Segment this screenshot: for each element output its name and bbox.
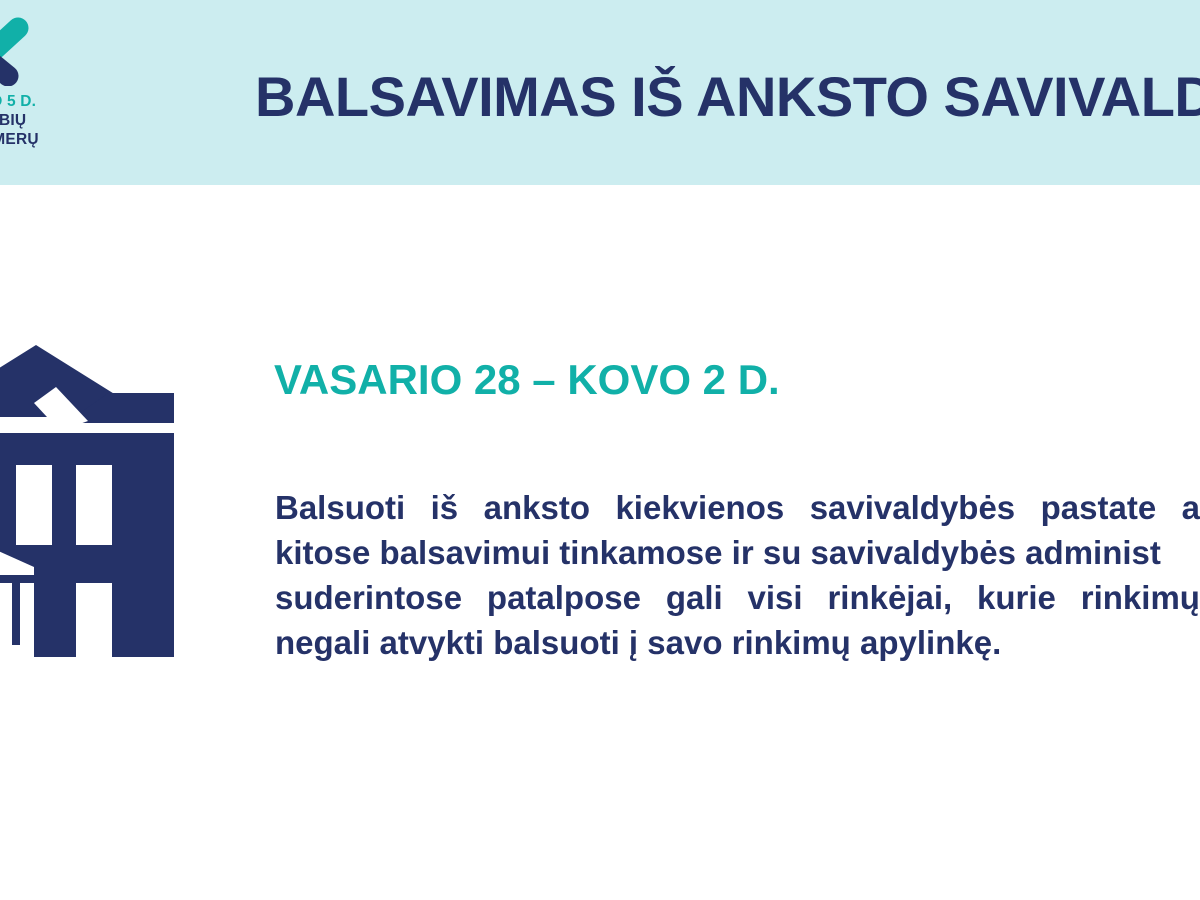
election-logo: KOVO 5 D. ALDYBIŲ Ų IR MERŲ KIMAI	[0, 14, 116, 174]
paragraph-word: rinkimų	[1081, 575, 1200, 620]
paragraph-line-2: kitose balsavimui tinkamose ir su saviva…	[275, 530, 1200, 575]
paragraph-word: pastate	[1041, 485, 1157, 530]
paragraph-word: gali	[666, 575, 723, 620]
logo-text-lines: KOVO 5 D. ALDYBIŲ Ų IR MERŲ KIMAI	[0, 92, 126, 168]
logo-line-1: ALDYBIŲ	[0, 111, 126, 130]
paragraph-word: kurie	[977, 575, 1056, 620]
logo-line-2: Ų IR MERŲ	[0, 130, 126, 149]
paragraph-word: savivaldybės	[810, 485, 1015, 530]
paragraph-line-1: Balsuotiišankstokiekvienossavivaldybėspa…	[275, 485, 1200, 530]
paragraph-word: patalpose	[487, 575, 641, 620]
municipality-building-icon	[0, 345, 174, 657]
paragraph-line-3: suderintosepatalposegalivisirinkėjai,kur…	[275, 575, 1200, 620]
logo-line-3: KIMAI	[0, 149, 126, 168]
paragraph-word: kiekvienos	[615, 485, 784, 530]
date-range-heading: VASARIO 28 – KOVO 2 D.	[274, 355, 780, 405]
paragraph-word: anksto	[484, 485, 590, 530]
paragraph-word: suderintose	[275, 575, 462, 620]
page-title: BALSAVIMAS IŠ ANKSTO SAVIVALDYBĖS	[255, 66, 1200, 128]
x-check-logo-mark-icon	[0, 14, 48, 86]
paragraph-word: a	[1182, 485, 1200, 530]
paragraph-word: visi	[748, 575, 803, 620]
paragraph-word: rinkėjai,	[827, 575, 952, 620]
logo-line-date: KOVO 5 D.	[0, 92, 126, 111]
header-band: KOVO 5 D. ALDYBIŲ Ų IR MERŲ KIMAI BALSAV…	[0, 0, 1200, 185]
paragraph-line-4: negali atvykti balsuoti į savo rinkimų a…	[275, 620, 1200, 665]
paragraph-word: iš	[431, 485, 459, 530]
body-paragraph: Balsuotiišankstokiekvienossavivaldybėspa…	[275, 485, 1200, 665]
paragraph-word: Balsuoti	[275, 485, 405, 530]
content-area: VASARIO 28 – KOVO 2 D. Balsuotiišankstok…	[0, 185, 1200, 900]
